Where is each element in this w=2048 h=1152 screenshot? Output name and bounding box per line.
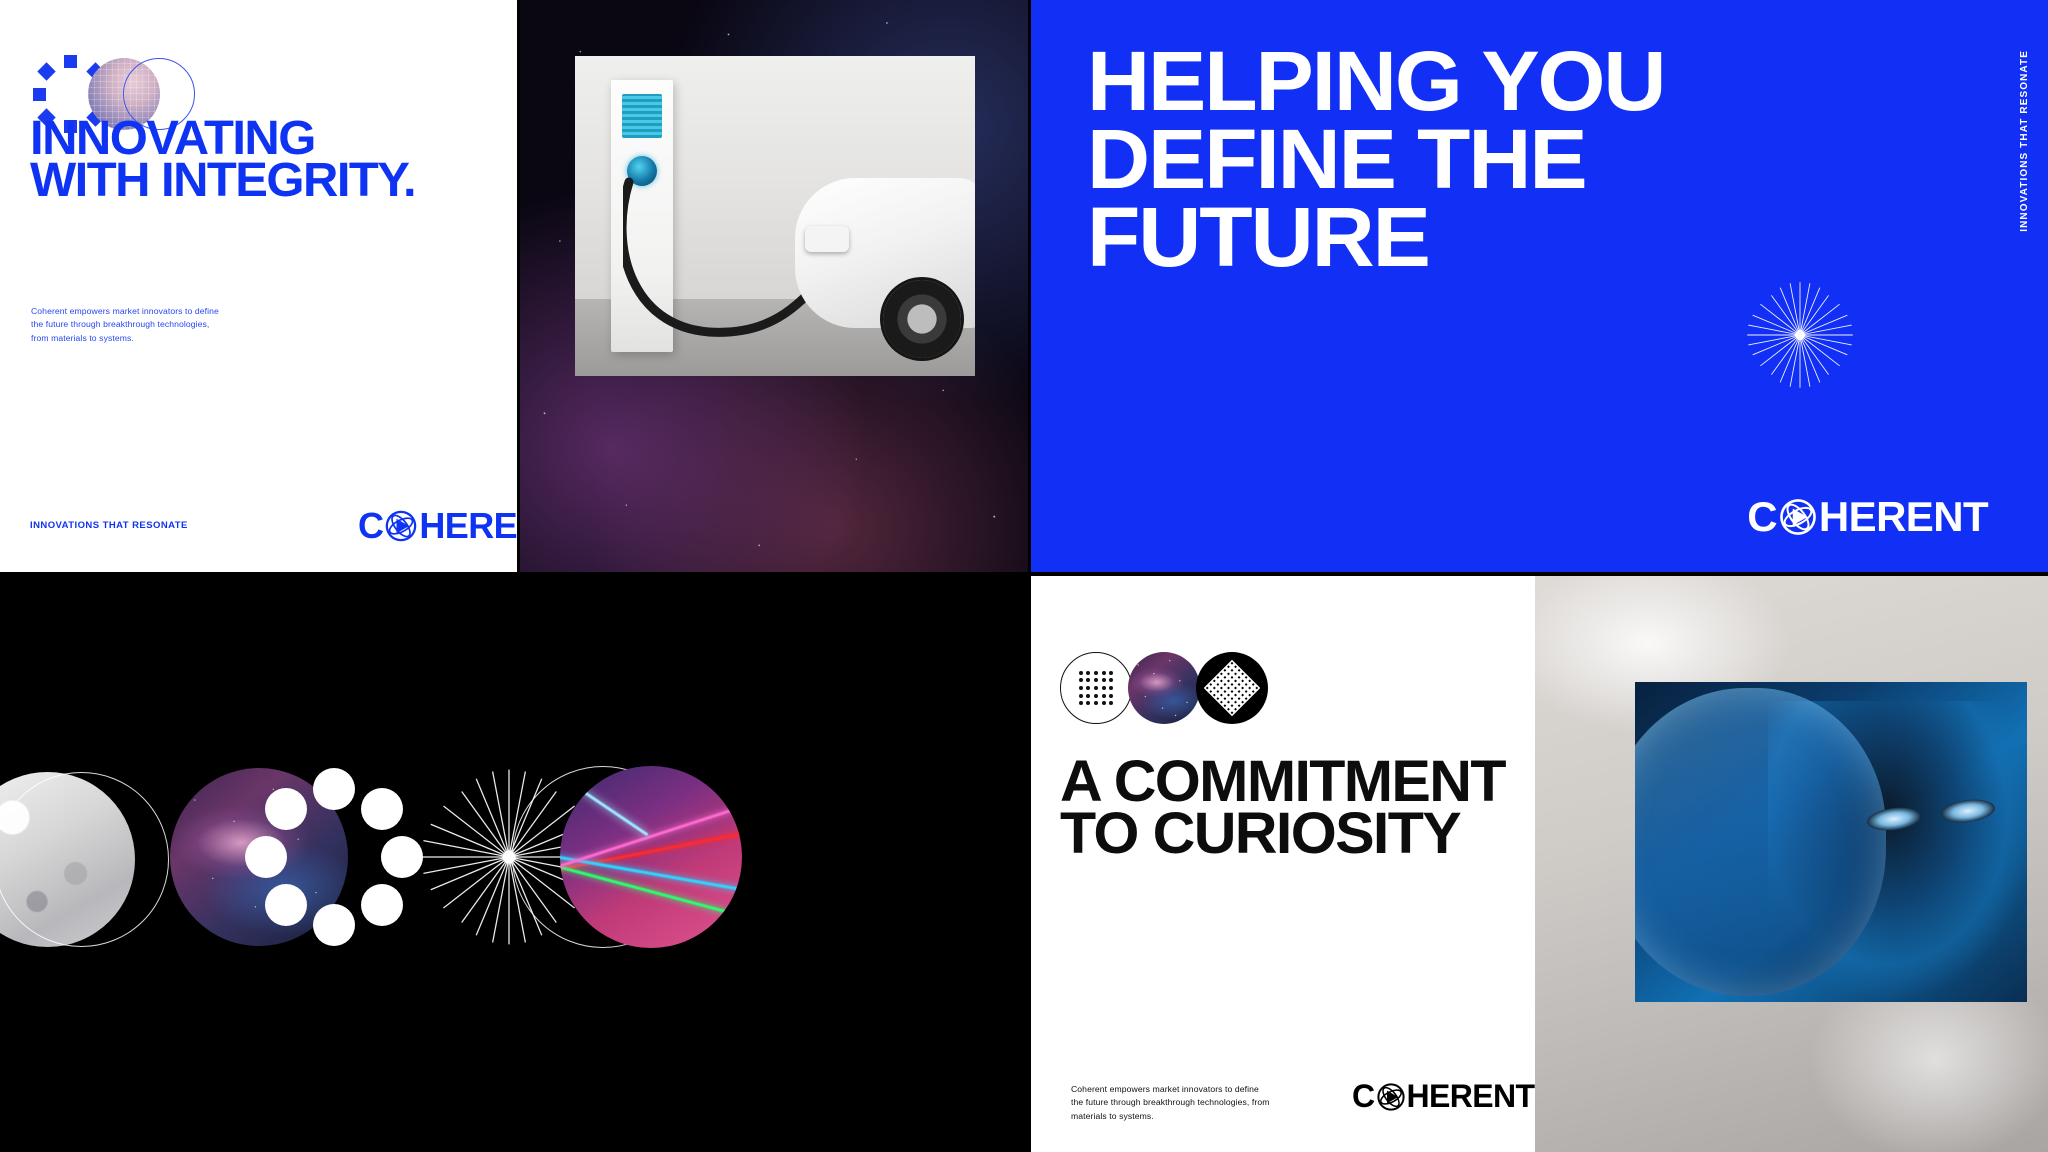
coherent-logo: C HERENT (358, 505, 519, 547)
galaxy-circle-icon (1128, 652, 1200, 724)
starburst-icon (1745, 280, 1855, 390)
station-screen (622, 94, 662, 138)
panel-divider-vertical-2 (1028, 0, 1031, 574)
dot-ring-icon (245, 768, 423, 946)
outline-ring-icon (0, 772, 169, 947)
atom-o-icon (1777, 496, 1819, 538)
panel-divider-horizontal (0, 572, 2048, 576)
three-circle-motif (1060, 652, 1280, 724)
boilerplate-copy: Coherent empowers market innovators to d… (1071, 1083, 1271, 1123)
tagline: INNOVATIONS THAT RESONATE (30, 520, 188, 531)
page-title: A COMMITMENT TO CURIOSITY (1060, 756, 1539, 860)
headline-line-1: HELPING YOU (1087, 42, 1753, 120)
diamond-circle-icon (1196, 652, 1268, 724)
logo-letters-herent: HERENT (1819, 493, 1988, 541)
panel-graphic-motifs (0, 574, 1030, 1152)
logo-letter-c: C (1352, 1078, 1375, 1115)
laser-sphere-icon (560, 766, 742, 948)
headline-line-2: TO CURIOSITY (1060, 808, 1539, 860)
coherent-logo: C HERENT (1352, 1078, 1534, 1115)
panel-astronaut-image (1535, 574, 2048, 1152)
logo-letter-c: C (358, 505, 383, 547)
logo-letters-herent: HERENT (1407, 1078, 1535, 1115)
page-title: INNOVATING WITH INTEGRITY. (30, 118, 509, 202)
logo-letter-c: C (1747, 493, 1777, 541)
headline-line-2: WITH INTEGRITY. (30, 160, 509, 202)
atom-o-icon (383, 508, 419, 544)
panel-helping-you-define-the-future: HELPING YOU DEFINE THE FUTURE (1030, 0, 2048, 574)
panel-ev-charging-image (519, 0, 1030, 574)
brand-showcase-board: INNOVATING WITH INTEGRITY. Coherent empo… (0, 0, 2048, 1152)
headline-line-3: FUTURE (1087, 198, 1753, 276)
ev-charging-photo (575, 56, 975, 376)
boilerplate-copy: Coherent empowers market innovators to d… (31, 305, 221, 345)
panel-innovating-with-integrity: INNOVATING WITH INTEGRITY. Coherent empo… (0, 0, 519, 574)
logo-letters-herent: HERENT (419, 505, 519, 547)
charging-plug (805, 226, 849, 252)
coherent-logo: C HERENT (1747, 493, 1988, 541)
panel-divider-vertical-1 (517, 0, 520, 574)
panel-divider-vertical-3 (1028, 574, 1031, 1152)
atom-o-icon (1375, 1081, 1407, 1113)
page-title: HELPING YOU DEFINE THE FUTURE (1087, 42, 1753, 276)
dot-grid-circle-icon (1060, 652, 1132, 724)
car-wheel (883, 280, 961, 358)
vertical-tagline: INNOVATIONS THAT RESONATE (2019, 50, 2030, 232)
electric-car (795, 152, 975, 362)
astronaut-photo (1635, 682, 2027, 1002)
helmet-visor (1635, 688, 1886, 995)
headline-line-2: DEFINE THE (1087, 120, 1753, 198)
